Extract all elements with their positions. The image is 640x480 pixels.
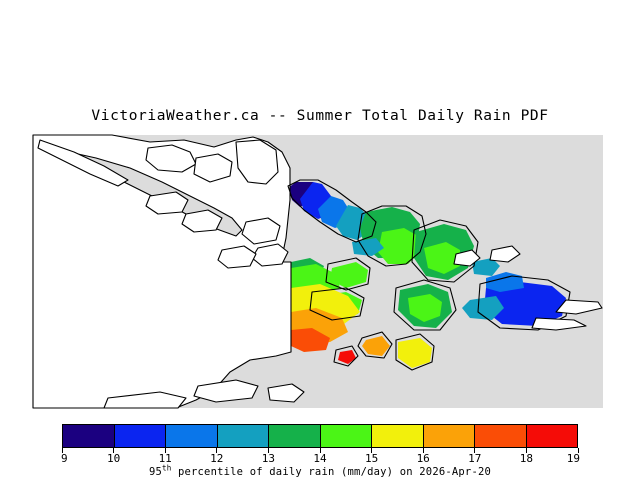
colorbar-segment-16-17[interactable] [424,425,476,447]
colorbar-gradient[interactable] [62,424,578,448]
colorbar-segment-10-11[interactable] [115,425,167,447]
colorbar-tick-labels: 910111213141516171819 [62,452,578,466]
colorbar-segment-9-10[interactable] [63,425,115,447]
colorbar-caption: 95th percentile of daily rain (mm/day) o… [62,466,578,478]
colorbar-tick-label-13: 13 [262,452,275,465]
map-panel[interactable] [0,0,640,418]
screenshot-root: VictoriaWeather.ca -- Summer Total Daily… [0,0,640,480]
colorbar-tick-label-12: 12 [210,452,223,465]
colorbar-segment-14-15[interactable] [321,425,373,447]
land-island-nw-d [146,192,188,214]
colorbar-tick-label-14: 14 [313,452,326,465]
colorbar-segment-18-19[interactable] [527,425,578,447]
page-title: VictoriaWeather.ca -- Summer Total Daily… [0,108,640,124]
colorbar-segment-17-18[interactable] [475,425,527,447]
colorbar-segment-11-12[interactable] [166,425,218,447]
colorbar-segment-13-14[interactable] [269,425,321,447]
colorbar-tick-label-15: 15 [365,452,378,465]
colorbar-caption-suffix: percentile of daily rain (mm/day) on 202… [171,466,491,478]
rainfall-contour-map[interactable] [0,0,640,418]
colorbar-tick-label-9: 9 [61,452,68,465]
colorbar-tick-label-18: 18 [520,452,533,465]
colorbar-tick-label-17: 17 [468,452,481,465]
colorbar-panel[interactable]: 910111213141516171819 95th percentile of… [62,424,578,478]
colorbar-tick-label-19: 19 [567,452,580,465]
colorbar-tick-label-10: 10 [107,452,120,465]
colorbar-segment-12-13[interactable] [218,425,270,447]
colorbar-segment-15-16[interactable] [372,425,424,447]
colorbar-tick-label-16: 16 [417,452,430,465]
colorbar-caption-prefix: 95 [149,466,162,478]
